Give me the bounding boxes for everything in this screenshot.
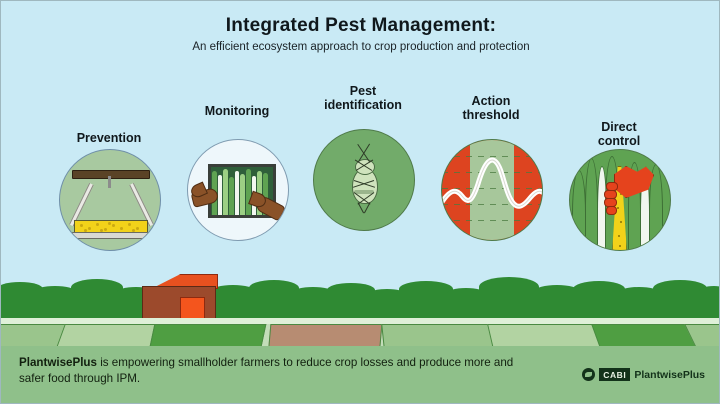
step-icon-pest-identification — [313, 129, 415, 231]
step-label-pest-identification: Pest identification — [293, 85, 433, 112]
step-icon-monitoring — [187, 139, 289, 241]
page-subtitle: An efficient ecosystem approach to crop … — [1, 41, 720, 53]
footer-brand: PlantwisePlus — [19, 356, 97, 369]
cabi-leaf-icon — [582, 368, 595, 381]
hanger-stem-icon — [108, 176, 111, 188]
plantwiseplus-wordmark: PlantwisePlus — [634, 369, 705, 381]
step-icon-action-threshold — [441, 139, 543, 241]
step-label-direct-control: Direct control — [549, 121, 689, 148]
hanging-pole-icon — [72, 170, 150, 179]
page-title: Integrated Pest Management: — [1, 15, 720, 37]
step-icon-direct-control — [569, 149, 671, 251]
threshold-curve-icon — [442, 140, 542, 240]
step-label-monitoring: Monitoring — [167, 105, 307, 119]
step-icon-prevention — [59, 149, 161, 251]
tray-rim-icon — [72, 232, 150, 239]
cabi-plantwiseplus-logo: CABI PlantwisePlus — [582, 368, 705, 381]
cabi-wordmark: CABI — [599, 368, 630, 381]
footer-message: PlantwisePlus is empowering smallholder … — [19, 355, 539, 387]
step-label-prevention: Prevention — [39, 132, 179, 146]
step-label-action-threshold: Action threshold — [421, 95, 561, 122]
barn-door — [180, 297, 205, 320]
ipm-infographic: Integrated Pest Management: An efficient… — [0, 0, 720, 404]
